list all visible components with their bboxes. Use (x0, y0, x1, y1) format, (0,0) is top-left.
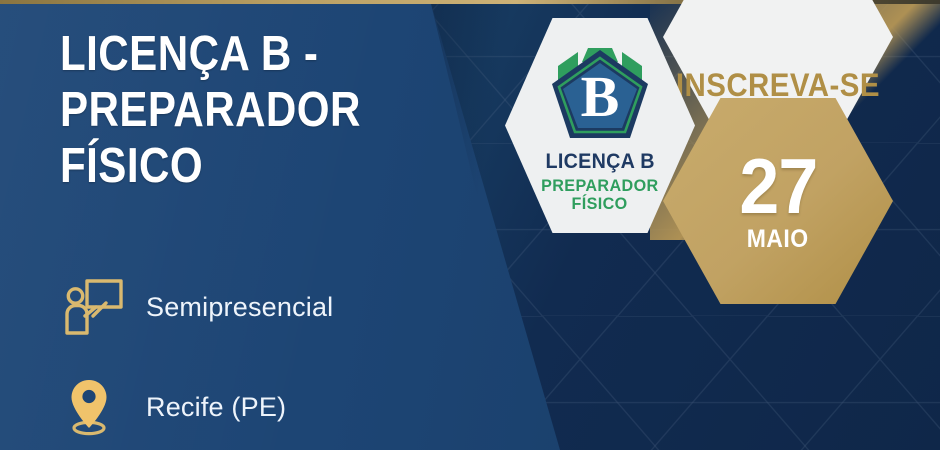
feature-modality-label: Semipresencial (146, 292, 333, 323)
logo-hexagon (505, 18, 695, 233)
feature-location-label: Recife (PE) (146, 392, 286, 423)
feature-location: Recife (PE) (62, 378, 286, 436)
date-hexagon (663, 98, 893, 304)
presenter-board-icon (62, 278, 124, 336)
event-banner: LICENÇA B - PREPARADOR FÍSICO Semipresen… (0, 0, 940, 450)
location-pin-icon (62, 378, 124, 436)
feature-modality: Semipresencial (62, 278, 333, 336)
page-title: LICENÇA B - PREPARADOR FÍSICO (60, 26, 370, 194)
